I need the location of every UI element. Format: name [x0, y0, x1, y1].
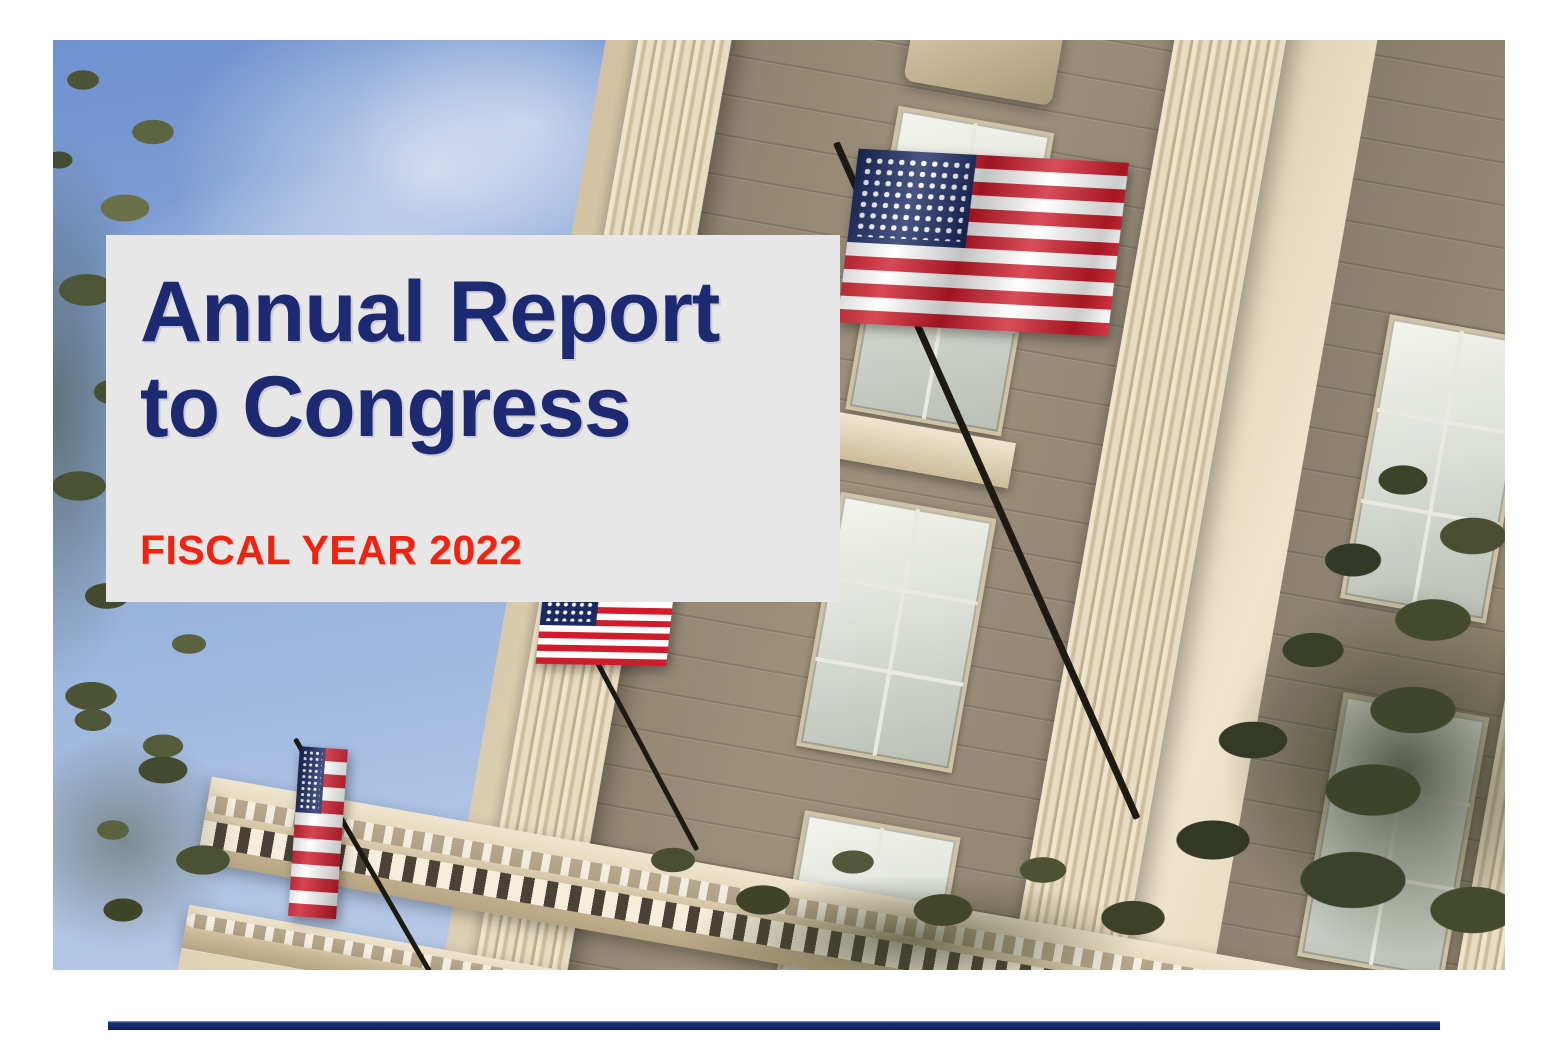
flag-wave-shading	[837, 149, 1129, 337]
page-title: Annual Report to Congress	[140, 265, 806, 454]
tree-foliage-bottom	[613, 800, 1233, 970]
report-cover-page: Annual Report to Congress FISCAL YEAR 20…	[0, 0, 1554, 1064]
us-flag-large	[837, 149, 1129, 337]
tree-foliage-lower-left	[53, 680, 353, 970]
fiscal-year-subtitle: FISCAL YEAR 2022	[140, 527, 522, 574]
title-panel: Annual Report to Congress FISCAL YEAR 20…	[106, 235, 840, 602]
bottom-divider-rule	[108, 1021, 1440, 1030]
